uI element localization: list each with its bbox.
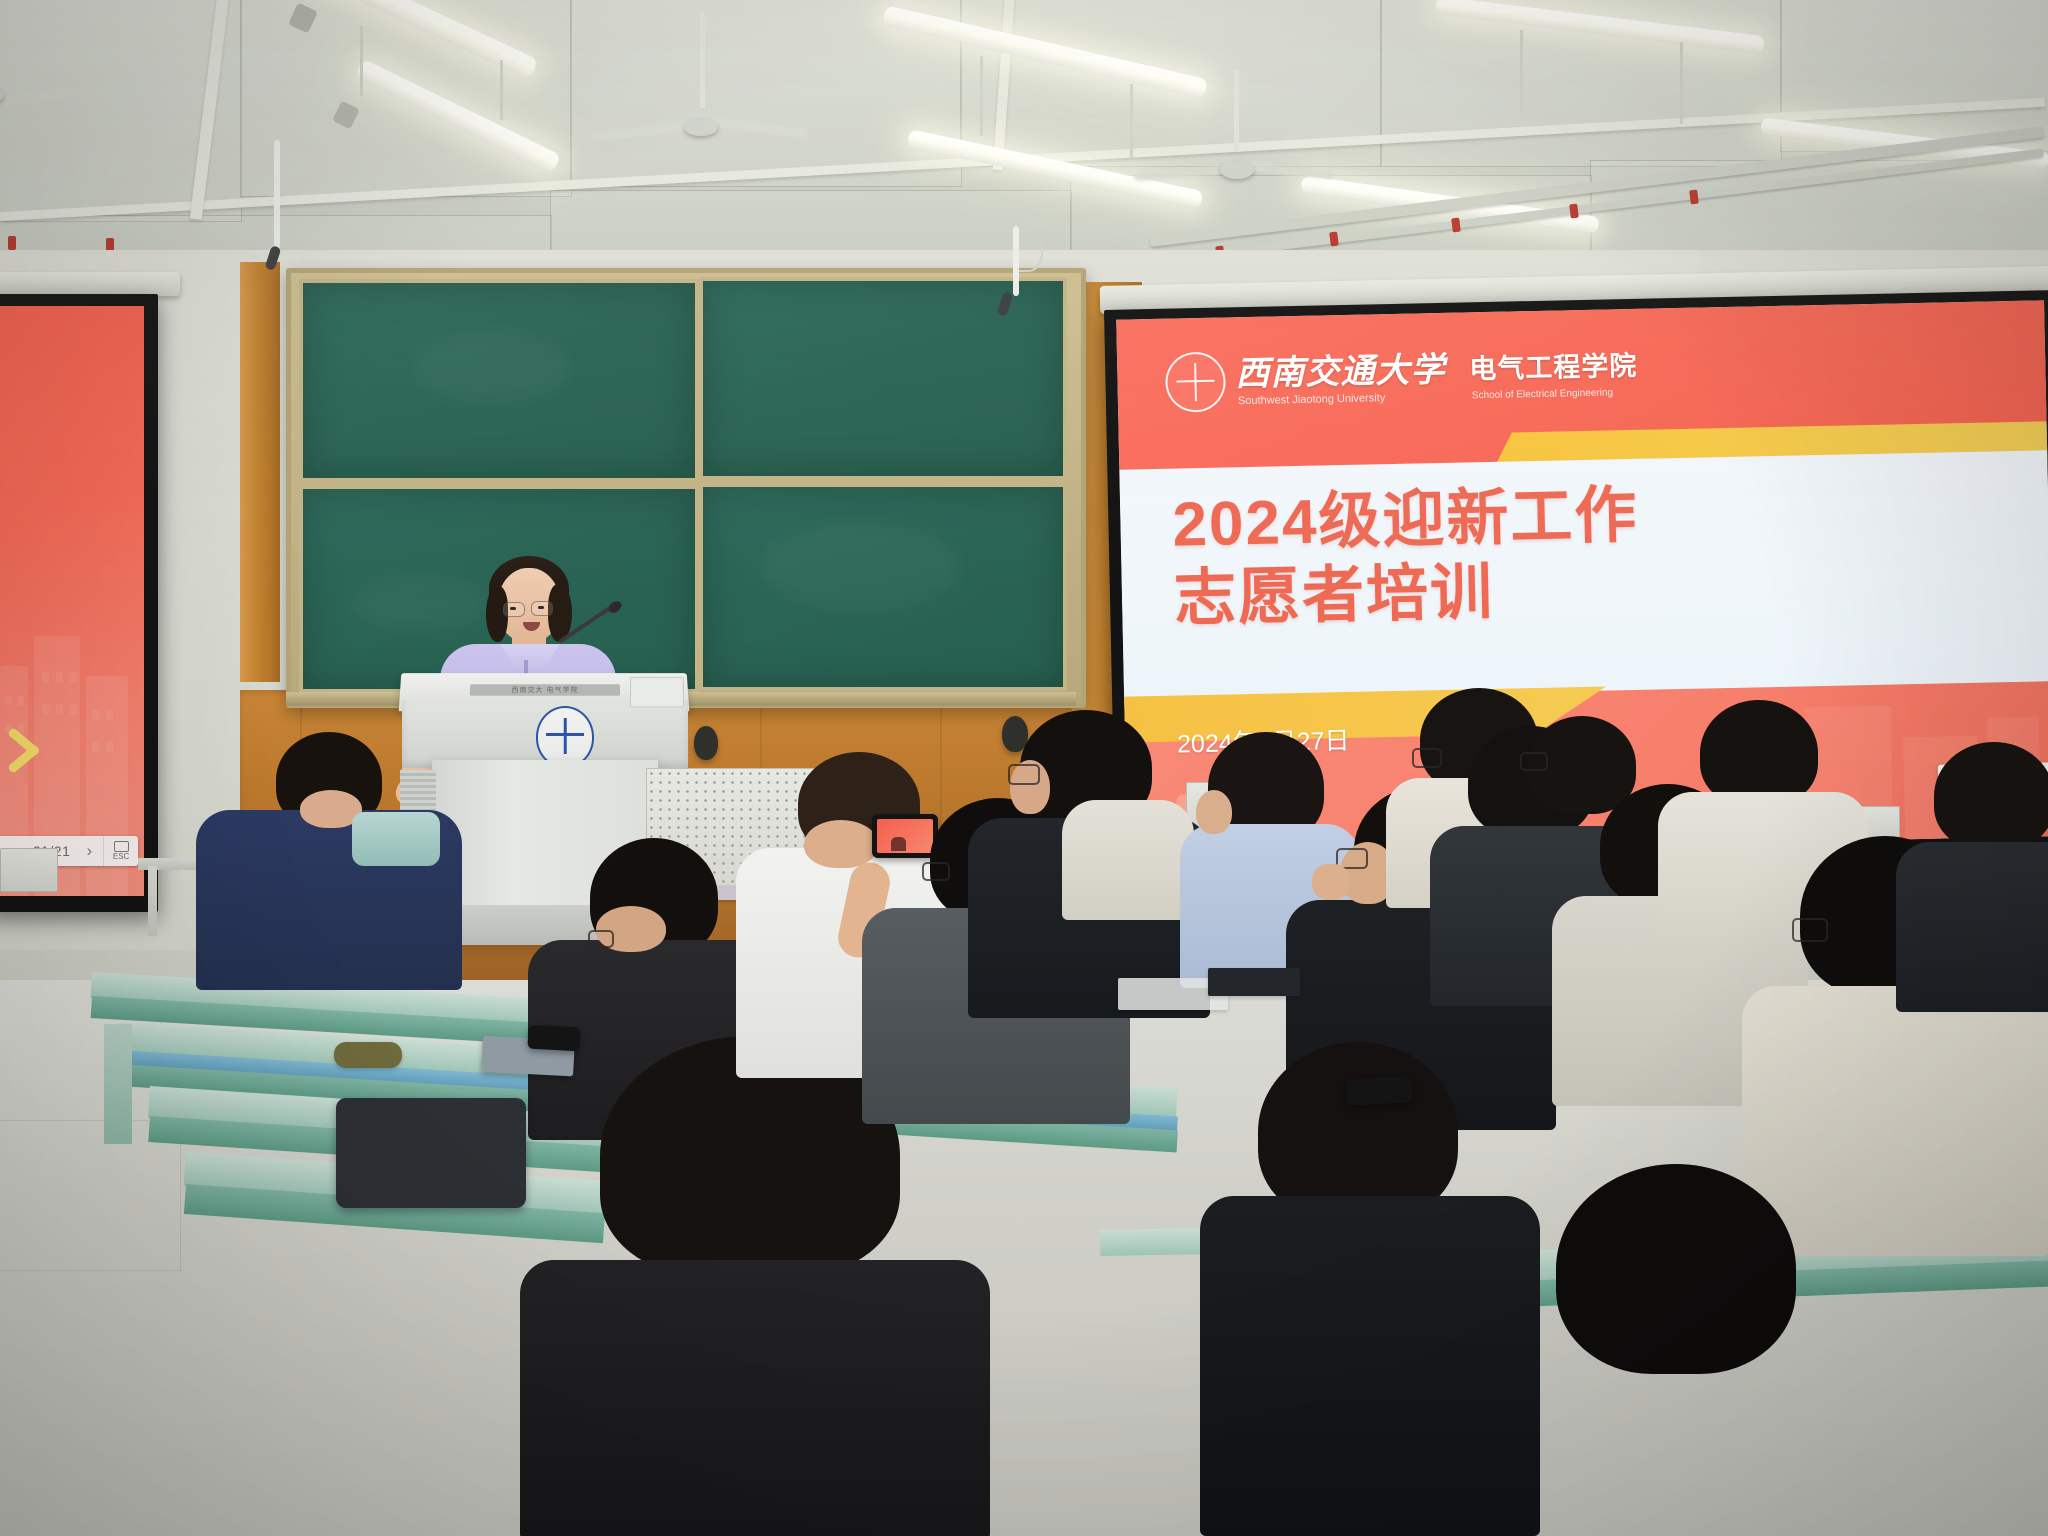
glasses-icon [588, 930, 614, 948]
school-name-en: School of Electrical Engineering [1472, 387, 1613, 401]
student-body [1200, 1196, 1540, 1536]
desk-end-panel [104, 1024, 132, 1144]
next-slide-button[interactable]: › [75, 836, 103, 866]
slide-title-line1: 2024级迎新工作 [1172, 483, 1639, 559]
student-body [1742, 986, 2048, 1256]
school-name-cn: 电气工程学院 [1469, 353, 1638, 384]
student-hand [1312, 864, 1350, 900]
podium-name-plate: 西南交大 电气学院 [470, 684, 620, 695]
university-name-cn: 西南交通大学 [1235, 353, 1446, 391]
slide-title-line2: 志愿者培训 [1173, 560, 1494, 633]
student-head [1196, 790, 1232, 834]
speaker-icon [694, 726, 718, 760]
stool-leg [148, 866, 157, 936]
phone-on-desk[interactable] [527, 1025, 580, 1052]
slide-body: 2024级迎新工作 志愿者培训 [1119, 450, 2048, 705]
student-hair [1934, 742, 2048, 850]
esc-label: ESC [113, 852, 129, 861]
chair-back [352, 812, 440, 866]
glasses-icon [1792, 918, 1828, 942]
student-body [1498, 1340, 1898, 1536]
student-body [1896, 842, 2048, 1012]
backpack [336, 1098, 526, 1208]
student-body [520, 1260, 990, 1536]
podium-control-plate[interactable] [630, 677, 684, 707]
phone-screen [877, 819, 934, 852]
student-phone[interactable] [872, 814, 938, 858]
student-hair [1700, 700, 1818, 806]
student-body [1062, 800, 1194, 920]
glasses-icon [1008, 764, 1040, 785]
student-hair [1258, 1042, 1458, 1222]
left-projection-screen: ‹ 21/21 › ESC [0, 294, 158, 912]
university-crest-icon [1165, 351, 1226, 412]
phone-on-desk[interactable] [1345, 1076, 1412, 1105]
student-head [804, 820, 878, 868]
wood-pillar [240, 262, 280, 682]
ceiling-microphone [274, 140, 280, 250]
monitor-icon [114, 841, 129, 852]
left-screen-case [0, 272, 180, 296]
classroom-photo: ‹ 21/21 › ESC 西南交通大学 Southwest Jiaotong … [0, 0, 2048, 1536]
chevron-right-icon [10, 722, 58, 780]
outlet-icon[interactable] [0, 848, 58, 892]
university-name-en: Southwest Jiaotong University [1238, 392, 1386, 407]
glasses-icon [922, 862, 950, 881]
glasses-icon [1520, 752, 1548, 771]
university-crest-icon: SWJTU [536, 706, 594, 768]
chalkboard [286, 268, 1086, 708]
esc-button[interactable]: ESC [103, 836, 138, 866]
glasses-case [334, 1042, 402, 1068]
glasses-icon [1412, 748, 1442, 768]
tablet-on-desk[interactable] [1208, 968, 1300, 996]
